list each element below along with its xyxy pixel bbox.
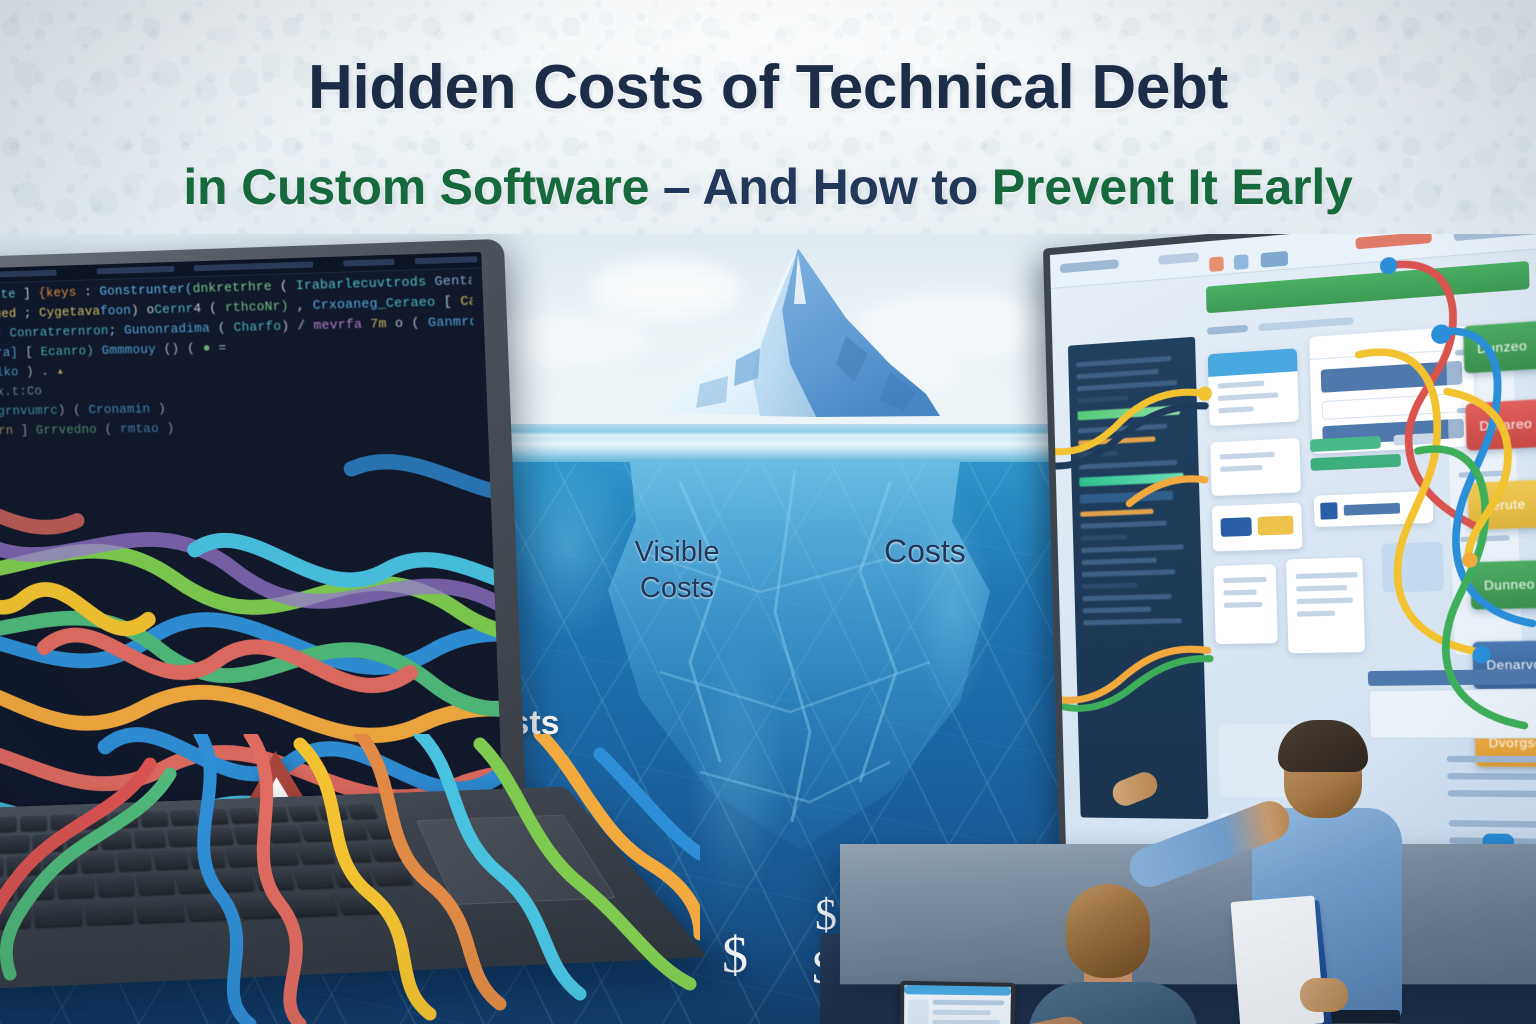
keyboard-key[interactable]	[288, 806, 318, 821]
label-costs-right: Costs	[884, 533, 966, 570]
keyboard-key[interactable]	[100, 831, 132, 849]
keyboard-key[interactable]	[236, 894, 288, 918]
scene: Visible Costs Costs Hidden Costs $ $ $ $	[0, 234, 1536, 1024]
wall-card[interactable]	[1210, 438, 1301, 496]
label-visible-line2: Costs	[640, 572, 714, 604]
keyboard-key[interactable]	[80, 853, 114, 872]
header-band: Hidden Costs of Technical Debt in Custom…	[0, 0, 1536, 238]
keyboard-key[interactable]	[293, 867, 334, 888]
laptop-trackpad[interactable]	[416, 815, 616, 905]
keyboard-key[interactable]	[189, 849, 225, 868]
keyboard-key[interactable]	[58, 876, 95, 897]
wall-card[interactable]	[1314, 491, 1434, 527]
page-title-text: Hidden Costs of Technical Debt	[308, 53, 1228, 122]
keyboard-key[interactable]	[97, 875, 135, 896]
keyboard-key[interactable]	[140, 811, 168, 826]
keyboard-key[interactable]	[21, 815, 48, 830]
standing-presenter	[1216, 728, 1426, 1024]
keyboard-key[interactable]	[199, 809, 228, 824]
wall-tag-label: Dunzeo	[1477, 338, 1527, 356]
keyboard-key[interactable]	[167, 828, 200, 845]
wall-card[interactable]	[1214, 564, 1278, 644]
keyboard-key[interactable]	[333, 843, 371, 862]
wall-tag[interactable]: Derute	[1468, 477, 1536, 530]
keyboard-key[interactable]	[85, 900, 134, 925]
keyboard-key[interactable]	[67, 832, 98, 850]
head	[1066, 884, 1150, 978]
keyboard-key[interactable]	[267, 825, 301, 842]
keyboard-key[interactable]	[7, 856, 40, 875]
keyboard-key[interactable]	[134, 830, 166, 848]
keyboard-key[interactable]	[317, 804, 348, 819]
keyboard-key[interactable]	[300, 824, 335, 841]
hand	[1300, 978, 1348, 1012]
wall-tag[interactable]: Dunzeo	[1463, 317, 1536, 373]
keyboard-key[interactable]	[44, 854, 78, 873]
keyboard-key[interactable]	[176, 872, 215, 893]
keyboard-key[interactable]	[0, 835, 29, 853]
keyboard-key[interactable]	[347, 803, 378, 818]
page-subtitle: in Custom Software – And How to Prevent …	[0, 158, 1536, 216]
keyboard-key[interactable]	[80, 813, 107, 828]
keyboard-key[interactable]	[18, 878, 54, 899]
keyboard-key[interactable]	[0, 880, 14, 901]
desk-laptop-lid	[900, 981, 1016, 1024]
keyboard-key[interactable]	[0, 904, 31, 929]
keyboard-key[interactable]	[229, 808, 259, 823]
keyboard-key[interactable]	[136, 898, 186, 922]
laptop-screen: [ state ] {keys : Gonstrunter(dnkretrhre…	[0, 252, 504, 841]
keyboard-key[interactable]	[153, 850, 188, 869]
poster-root: Hidden Costs of Technical Debt in Custom…	[0, 0, 1536, 1024]
wall-card[interactable]	[1212, 503, 1303, 552]
wall-tag-label: Derute	[1482, 497, 1526, 514]
keyboard-key[interactable]	[234, 826, 268, 843]
keyboard-key[interactable]	[226, 847, 263, 866]
wall-tag-label: Derareo	[1479, 416, 1532, 434]
hair	[1278, 720, 1368, 772]
desk-laptop-screen	[904, 985, 1011, 1024]
label-visible-costs: Visible Costs	[612, 534, 742, 606]
subtitle-green-1: in Custom Software	[183, 159, 649, 215]
wall-tag[interactable]: Derareo	[1465, 396, 1536, 450]
keyboard-key[interactable]	[261, 846, 298, 865]
keyboard-key[interactable]	[366, 821, 402, 838]
keyboard-key[interactable]	[333, 822, 368, 839]
keyboard-key[interactable]	[335, 890, 389, 914]
keyboard-key[interactable]	[0, 816, 17, 831]
keyboard-key[interactable]	[332, 866, 374, 887]
dollar-icon: $	[722, 926, 748, 985]
keyboard-key[interactable]	[259, 807, 289, 822]
keyboard-key[interactable]	[170, 810, 199, 825]
subtitle-green-2: Prevent It Early	[992, 159, 1353, 215]
keyboard-key[interactable]	[200, 827, 233, 844]
keyboard-key[interactable]	[0, 857, 3, 876]
wall-card[interactable]	[1286, 557, 1365, 653]
subtitle-navy-1: – And How to	[649, 159, 992, 215]
laptop-lid: [ state ] {keys : Gonstrunter(dnkretrhre…	[0, 239, 528, 858]
keyboard-key[interactable]	[297, 844, 335, 863]
keyboard-key[interactable]	[51, 814, 78, 829]
seated-developer	[1018, 884, 1208, 1024]
keyboard-key[interactable]	[369, 842, 408, 861]
desk-laptop[interactable]	[900, 982, 1035, 1024]
wall-tag[interactable]: Dunneo	[1470, 558, 1536, 609]
laptop-left[interactable]: [ state ] {keys : Gonstrunter(dnkretrhre…	[0, 234, 594, 1024]
torso	[1028, 982, 1198, 1024]
keyboard-key[interactable]	[33, 834, 64, 852]
iceberg-above-water	[640, 244, 970, 434]
keyboard-key[interactable]	[285, 892, 338, 916]
keyboard-key[interactable]	[137, 873, 175, 894]
iceberg-below-water	[560, 462, 1030, 862]
keyboard-key[interactable]	[35, 902, 83, 927]
dollar-icon: $	[815, 889, 837, 940]
label-visible-line1: Visible	[635, 536, 720, 568]
page-title: Hidden Costs of Technical Debt	[0, 52, 1536, 123]
wall-tag-label: Dunneo	[1484, 577, 1535, 593]
keyboard-key[interactable]	[186, 896, 237, 920]
keyboard-key[interactable]	[117, 851, 152, 870]
keyboard-key[interactable]	[370, 864, 413, 885]
wall-card[interactable]	[1208, 348, 1299, 426]
keyboard-key[interactable]	[215, 870, 255, 891]
keyboard-key[interactable]	[254, 869, 295, 890]
laptop-keyboard[interactable]	[0, 803, 436, 940]
keyboard-key[interactable]	[110, 812, 138, 827]
wall-log-panel[interactable]	[1068, 337, 1208, 819]
